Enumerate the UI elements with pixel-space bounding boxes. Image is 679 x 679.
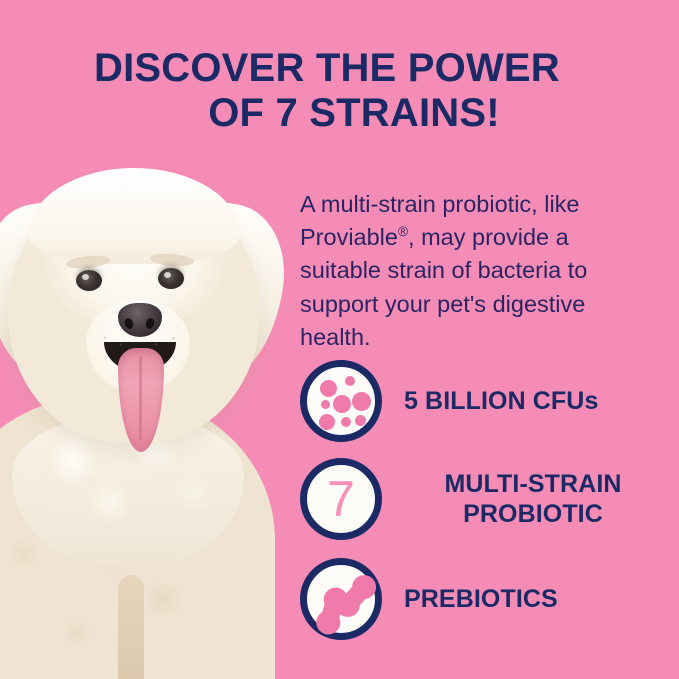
body-copy-before-brand: A multi-strain probiotic, like [300, 191, 580, 217]
colony-dot [352, 392, 371, 411]
product-ad-banner: DISCOVER THE POWER OF 7 STRAINS! A multi… [0, 0, 679, 679]
feature-label-multi-strain: MULTI-STRAIN PROBIOTIC [404, 469, 662, 530]
seven-glyph: 7 [307, 474, 375, 524]
headline-line-1: DISCOVER THE POWER [94, 46, 614, 91]
headline: DISCOVER THE POWER OF 7 STRAINS! [94, 46, 614, 136]
headline-line-2: OF 7 STRAINS! [94, 91, 614, 136]
feature-row-multi-strain: 7 MULTI-STRAIN PROBIOTIC [300, 458, 662, 540]
feature-row-prebiotics: PREBIOTICS [300, 558, 558, 640]
dog-nostril-right [144, 317, 155, 330]
colony-dot [345, 376, 355, 386]
colony-dot [319, 414, 335, 430]
colony-dot [321, 400, 330, 409]
molecule-capsule [336, 575, 376, 617]
colony-dot [333, 395, 351, 413]
feature-row-cfus: 5 BILLION CFUs [300, 360, 598, 442]
number-seven-icon: 7 [300, 458, 382, 540]
colony-dot [320, 380, 337, 397]
dog-eye-left [76, 270, 102, 291]
prebiotic-molecule-icon [300, 558, 382, 640]
feature-label-prebiotics: PREBIOTICS [404, 584, 558, 615]
brand-name: Proviable [300, 224, 398, 250]
dog-head-fur [28, 168, 240, 264]
feature-label-cfus: 5 BILLION CFUs [404, 386, 598, 417]
colony-dot [355, 415, 366, 426]
dog-nostril-left [123, 317, 134, 330]
dog-eye-right [158, 268, 184, 289]
colony-dot [341, 417, 351, 427]
registered-trademark-icon: ® [398, 224, 408, 239]
bacteria-colony-icon [300, 360, 382, 442]
body-copy: A multi-strain probiotic, like Proviable… [300, 188, 612, 355]
dog-leg-shadow [118, 575, 144, 679]
